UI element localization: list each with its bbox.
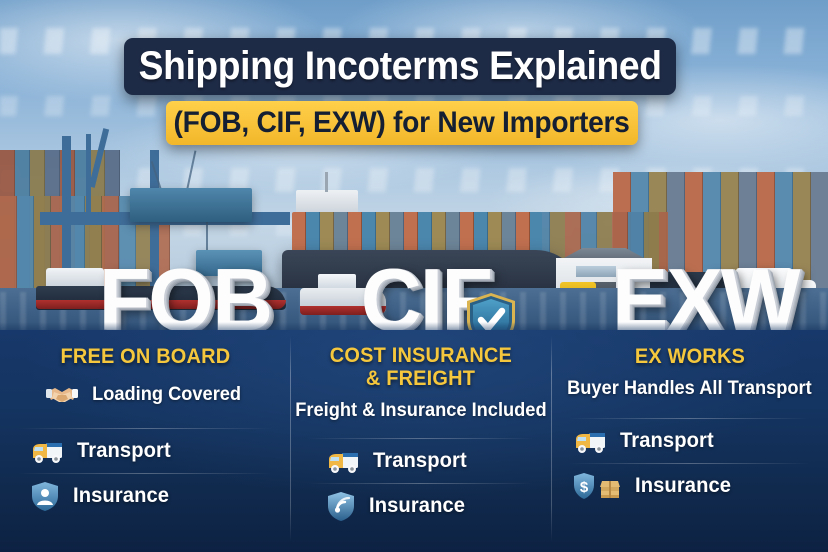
delivery-truck-icon bbox=[573, 426, 607, 456]
infographic-canvas: Shipping Incoterms Explained (FOB, CIF, … bbox=[0, 0, 828, 552]
exw-rows: Transport $ bbox=[551, 406, 828, 508]
fob-insurance-label: Insurance bbox=[73, 484, 169, 508]
lifted-container-icon bbox=[130, 188, 252, 222]
delivery-truck-icon bbox=[326, 446, 360, 476]
dollar-shield-icon: $ bbox=[573, 472, 595, 500]
exw-row-transport: Transport bbox=[551, 419, 828, 463]
dollar-shield-money-icon: $ bbox=[573, 472, 622, 500]
page-title: Shipping Incoterms Explained bbox=[139, 44, 662, 89]
cif-rows: Transport Insurance bbox=[290, 428, 551, 528]
exw-row-insurance: $ Insurance bbox=[551, 464, 828, 508]
exw-feature-label: Buyer Handles All Transport bbox=[567, 378, 812, 400]
cif-row-insurance: Insurance bbox=[290, 484, 551, 528]
title-bar: Shipping Incoterms Explained bbox=[124, 38, 676, 95]
column-heading-cif-line1: COST INSURANCE bbox=[329, 344, 511, 367]
column-cif: COST INSURANCE & FREIGHT Freight & Insur… bbox=[290, 330, 551, 552]
shield-signal-icon bbox=[326, 491, 356, 521]
fob-feature-row: Loading Covered bbox=[45, 380, 244, 410]
crane-tower-icon bbox=[86, 134, 91, 218]
column-fob: FREE ON BOARD Loading Covered bbox=[0, 330, 290, 552]
column-exw: EX WORKS Buyer Handles All Transport Tra… bbox=[551, 330, 828, 552]
delivery-truck-icon bbox=[30, 436, 64, 466]
fob-feature-label: Loading Covered bbox=[93, 384, 242, 406]
fob-transport-label: Transport bbox=[77, 439, 171, 463]
fob-row-transport: Transport bbox=[0, 429, 290, 473]
fob-rows: Transport Insurance bbox=[0, 416, 290, 518]
shield-person-icon bbox=[30, 481, 60, 511]
column-heading-exw: EX WORKS bbox=[634, 345, 744, 368]
ship-mast bbox=[325, 172, 328, 192]
cif-transport-label: Transport bbox=[373, 449, 467, 473]
cif-row-transport: Transport bbox=[290, 439, 551, 483]
fob-row-insurance: Insurance bbox=[0, 474, 290, 518]
money-stack-icon bbox=[598, 473, 622, 499]
cif-insurance-label: Insurance bbox=[369, 494, 465, 518]
handshake-icon bbox=[45, 380, 79, 410]
ship-cargo-containers bbox=[292, 212, 542, 254]
subtitle-bar: (FOB, CIF, EXW) for New Importers bbox=[166, 101, 638, 145]
exw-insurance-label: Insurance bbox=[635, 474, 731, 498]
exw-transport-label: Transport bbox=[620, 429, 714, 453]
warehouse-window bbox=[576, 266, 616, 277]
page-subtitle: (FOB, CIF, EXW) for New Importers bbox=[174, 106, 630, 140]
column-heading-fob: FREE ON BOARD bbox=[60, 345, 230, 368]
column-heading-cif-line2: & FREIGHT bbox=[366, 367, 475, 390]
svg-text:$: $ bbox=[580, 479, 589, 496]
cif-feature-label: Freight & Insurance Included bbox=[295, 400, 546, 422]
